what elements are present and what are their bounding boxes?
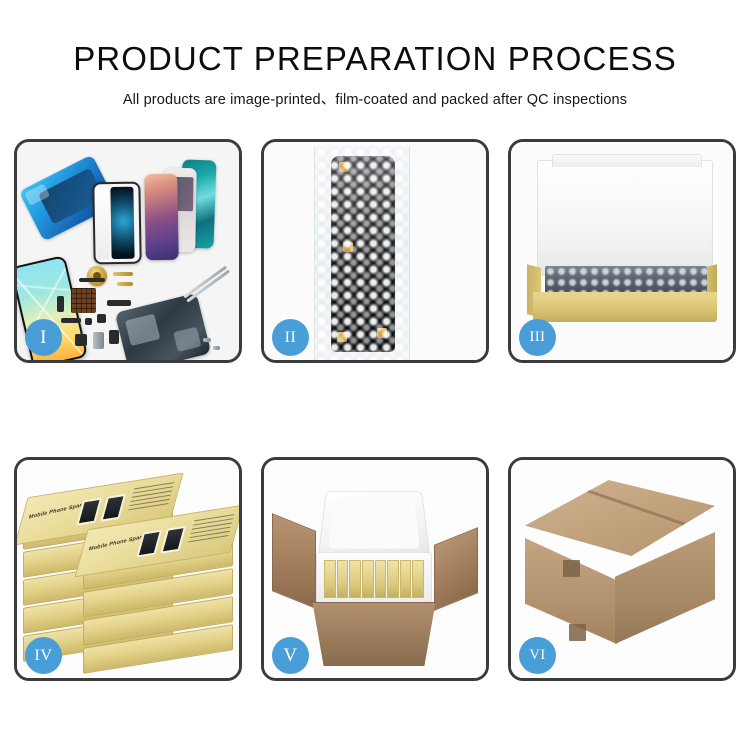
yellow-boxes-inside bbox=[324, 560, 424, 598]
carton-top-face bbox=[525, 480, 715, 556]
phone-purple bbox=[144, 174, 178, 261]
box-window-phone bbox=[160, 526, 186, 554]
step-card-6: VI bbox=[508, 457, 736, 681]
page-title: PRODUCT PREPARATION PROCESS bbox=[0, 42, 750, 77]
step-card-2: II bbox=[261, 139, 489, 363]
gold-connector-part bbox=[117, 282, 133, 286]
sim-tray-part bbox=[93, 332, 104, 349]
step-card-4: Mobile Phone Spare Parts Mobile Phone Sp… bbox=[14, 457, 242, 681]
page-subtitle: All products are image-printed、film-coat… bbox=[0, 88, 750, 109]
step-card-1: I bbox=[14, 139, 242, 363]
flex-cable-part bbox=[107, 300, 131, 306]
small-component bbox=[57, 296, 64, 312]
process-step-grid: I II bbox=[14, 139, 736, 681]
small-component bbox=[61, 318, 81, 323]
step-badge-5: V bbox=[272, 637, 309, 674]
screw-part bbox=[213, 346, 220, 350]
box-spec-lines bbox=[126, 482, 175, 520]
step-badge-1: I bbox=[25, 319, 62, 356]
step-badge-6: VI bbox=[519, 637, 556, 674]
speaker-coil-part bbox=[87, 266, 107, 286]
step-badge-4: IV bbox=[25, 637, 62, 674]
step-badge-3: III bbox=[519, 319, 556, 356]
tweezers-tool bbox=[183, 266, 230, 304]
flex-cable-part bbox=[79, 278, 105, 282]
small-component bbox=[85, 318, 92, 325]
box-window-phone bbox=[100, 494, 126, 522]
box-window-phone bbox=[136, 530, 162, 558]
carton-tape-patch bbox=[563, 560, 580, 577]
carton-front-panel bbox=[304, 602, 444, 666]
bubble-wrapped-contents bbox=[545, 266, 707, 294]
small-component bbox=[75, 334, 87, 346]
chip-array-part bbox=[71, 288, 96, 313]
carton-tape-patch bbox=[569, 624, 586, 641]
small-component bbox=[109, 330, 119, 344]
gold-connector-part bbox=[113, 272, 133, 276]
small-component bbox=[97, 314, 106, 323]
step-card-5: V bbox=[261, 457, 489, 681]
step-card-3: III bbox=[508, 139, 736, 363]
screw-part bbox=[203, 338, 211, 342]
box-window-phone bbox=[76, 498, 102, 526]
carton-flap-left bbox=[272, 513, 316, 609]
kraft-box-front bbox=[533, 292, 717, 322]
page-header: PRODUCT PREPARATION PROCESS All products… bbox=[0, 0, 750, 109]
bubble-wrap-bag bbox=[314, 146, 410, 362]
foam-lid-open bbox=[318, 491, 431, 558]
box-spec-lines bbox=[186, 514, 235, 552]
step-badge-2: II bbox=[272, 319, 309, 356]
phone-black-frame bbox=[92, 182, 141, 265]
foam-sheet bbox=[541, 186, 709, 252]
carton-flap-right bbox=[434, 527, 478, 611]
bubble-texture bbox=[315, 146, 409, 362]
